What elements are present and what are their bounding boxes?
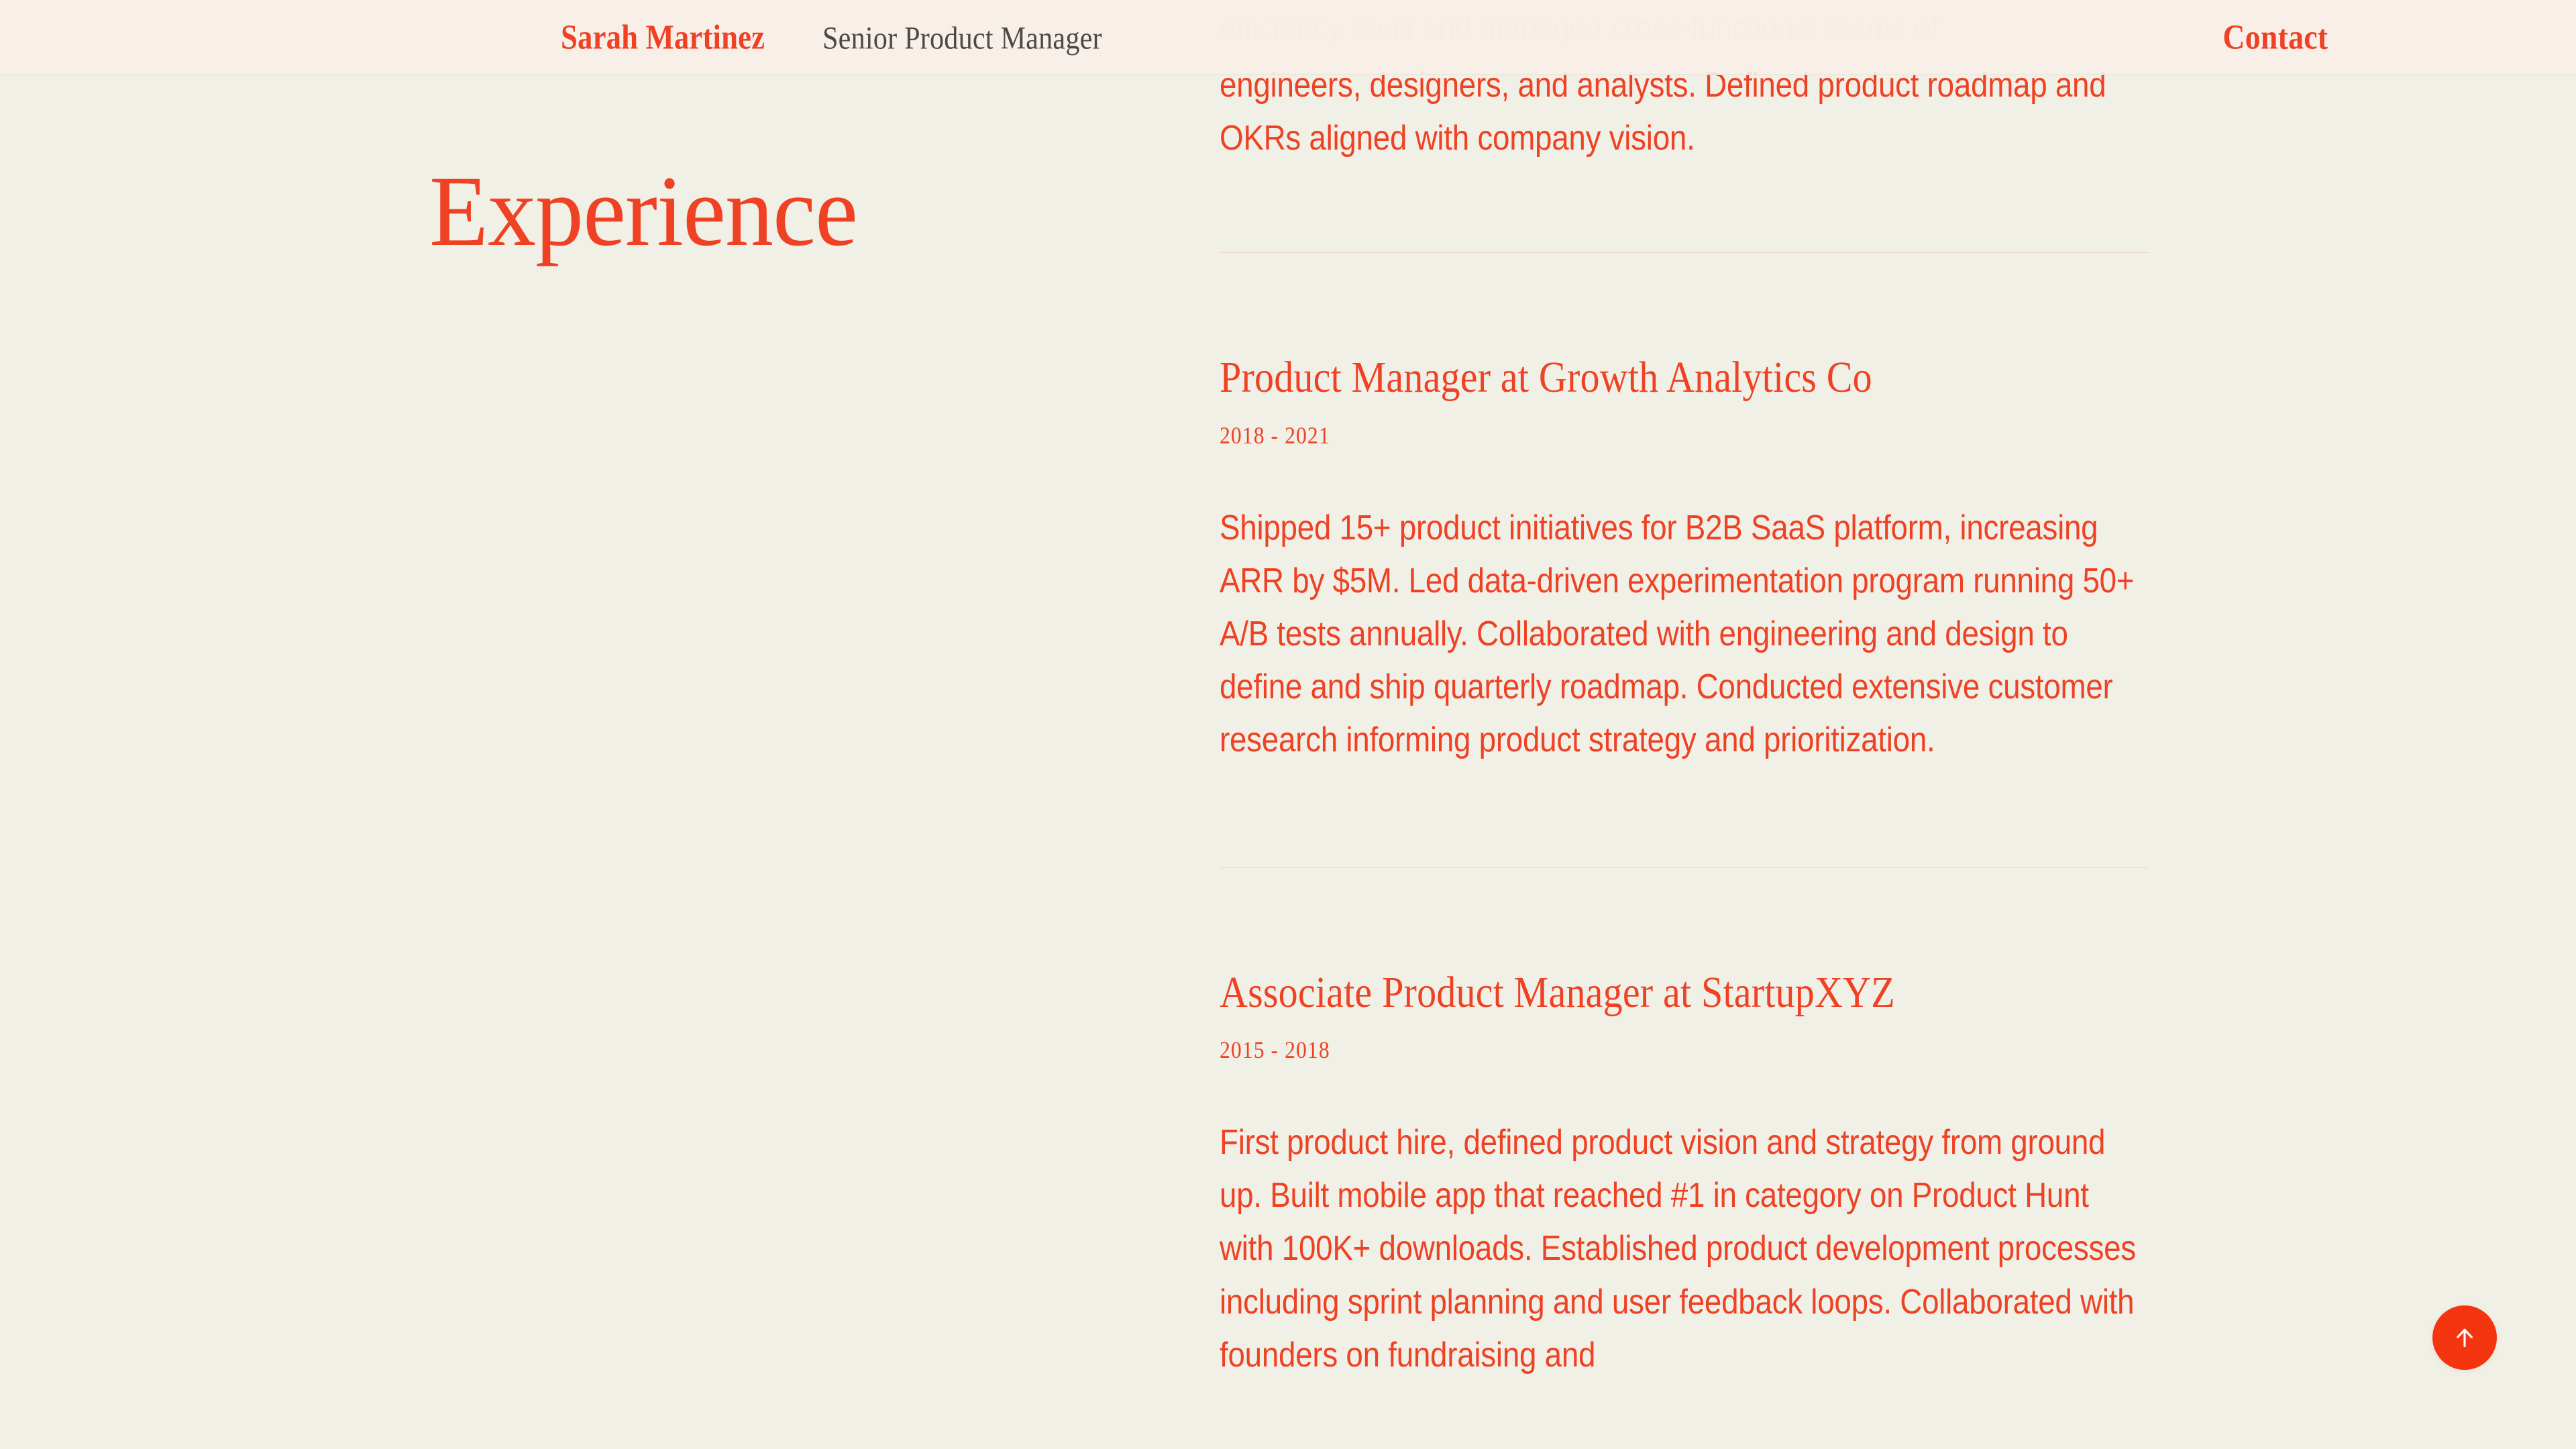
nav-link-contact[interactable]: Contact: [2222, 17, 2328, 57]
entry-title: Associate Product Manager at StartupXYZ: [1220, 969, 2037, 1018]
main-content: Experience engineers, designers, and ana…: [0, 0, 2576, 1449]
entry-title: Product Manager at Growth Analytics Co: [1220, 354, 2037, 402]
page-title: Experience: [429, 161, 1138, 262]
brand-role: Senior Product Manager: [822, 19, 1102, 56]
brand-group[interactable]: Sarah Martinez Senior Product Manager: [561, 17, 1140, 57]
entry-date: 2015 - 2018: [1220, 1036, 2037, 1064]
left-column: Experience: [429, 161, 1167, 262]
right-column: engineers, designers, and analysts. Defi…: [1220, 0, 2149, 1382]
site-header: Sarah Martinez Senior Product Manager Co…: [0, 0, 2576, 75]
experience-entry: Product Manager at Growth Analytics Co 2…: [1220, 354, 2149, 767]
experience-entry: Associate Product Manager at StartupXYZ …: [1220, 969, 2149, 1382]
header-inner: Sarah Martinez Senior Product Manager Co…: [0, 0, 2576, 74]
entry-date: 2018 - 2021: [1220, 421, 2037, 449]
brand-name[interactable]: Sarah Martinez: [561, 17, 765, 57]
arrow-up-icon: [2451, 1324, 2478, 1351]
page-root: Experience engineers, designers, and ana…: [0, 0, 2576, 1449]
entry-body: First product hire, defined product visi…: [1220, 1116, 2147, 1381]
scroll-to-top-button[interactable]: [2432, 1305, 2497, 1370]
entry-body: Shipped 15+ product initiatives for B2B …: [1220, 502, 2147, 767]
